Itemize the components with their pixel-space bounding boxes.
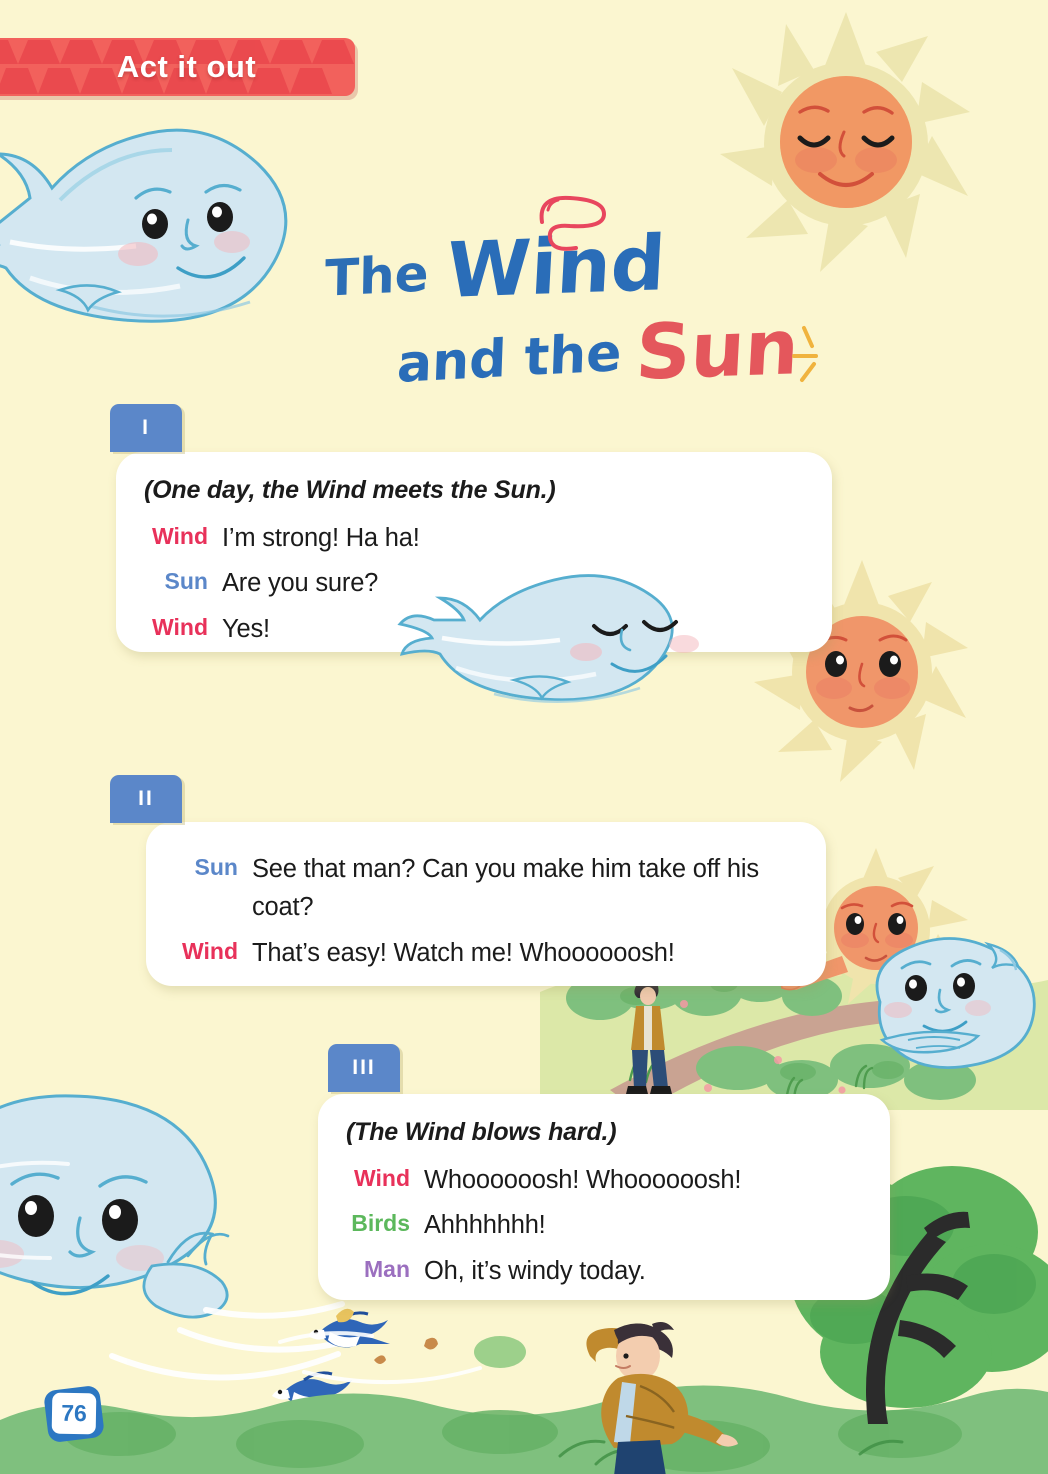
title-word-sun: Sun (633, 302, 801, 397)
wind-character-top-left (0, 92, 340, 364)
sun-top-right-icon (716, 6, 976, 278)
page-number-value: 76 (49, 1390, 100, 1438)
scene-tab-2[interactable]: II (110, 775, 182, 823)
speaker-label: Wind (144, 519, 222, 554)
speech-text: See that man? Can you make him take off … (252, 850, 762, 927)
wind-spirit-laughing-icon (398, 568, 728, 738)
speaker-label: Man (346, 1252, 424, 1287)
speech-text: Oh, it’s windy today. (424, 1252, 862, 1290)
speaker-label: Sun (144, 564, 222, 599)
dialogue-line: Wind That’s easy! Watch me! Whoooooosh! (174, 934, 798, 972)
title-sparkle-decoration (790, 322, 846, 388)
wind-character-scene-two (860, 928, 1048, 1078)
stage-direction-3: (The Wind blows hard.) (346, 1118, 862, 1147)
man-holding-hair-icon (556, 1308, 746, 1474)
scene-numeral: III (352, 1056, 376, 1080)
dialogue-box-scene-3: (The Wind blows hard.) Wind Whoooooosh! … (318, 1094, 890, 1300)
dialogue-line: Birds Ahhhhhhh! (346, 1206, 862, 1244)
title-word-the: The (325, 244, 429, 308)
speech-text: Ahhhhhhh! (424, 1206, 862, 1244)
speech-text: Whoooooosh! Whoooooosh! (424, 1161, 862, 1199)
scene-numeral: I (142, 416, 150, 440)
dialogue-line: Wind I’m strong! Ha ha! (144, 519, 804, 557)
speaker-label: Sun (174, 850, 252, 885)
title-word-and-the: and the (396, 323, 622, 395)
dialogue-line: Man Oh, it’s windy today. (346, 1252, 862, 1290)
dialogue-line: Wind Whoooooosh! Whoooooosh! (346, 1161, 862, 1199)
title-swirl-decoration (524, 192, 634, 256)
swirl-icon (524, 192, 634, 256)
scene-tab-3[interactable]: III (328, 1044, 400, 1092)
dialogue-box-scene-2: Sun See that man? Can you make him take … (146, 822, 826, 986)
scene-tab-1[interactable]: I (110, 404, 182, 452)
wind-character-scene-one (398, 568, 728, 738)
textbook-page: Act it out The Wind and the Sun I (0, 0, 1048, 1474)
banner-title: Act it out (79, 49, 256, 85)
wind-spirit-top-left-icon (0, 92, 340, 364)
speaker-label: Wind (346, 1161, 424, 1196)
wind-spirit-arms-crossed-icon (860, 928, 1048, 1078)
dialogue-line: Sun See that man? Can you make him take … (174, 850, 798, 927)
sparkle-icon (790, 322, 846, 388)
man-windy-scene-three (556, 1308, 746, 1474)
act-it-out-banner: Act it out (0, 38, 355, 96)
stage-direction-1: (One day, the Wind meets the Sun.) (144, 476, 804, 505)
speaker-label: Birds (346, 1206, 424, 1241)
speaker-label: Wind (144, 610, 222, 645)
sun-character-top-right (716, 6, 976, 278)
page-number-badge: 76 (46, 1388, 102, 1440)
speech-text: That’s easy! Watch me! Whoooooosh! (252, 934, 798, 972)
speech-text: I’m strong! Ha ha! (222, 519, 804, 557)
scene-numeral: II (138, 787, 154, 811)
speaker-label: Wind (174, 934, 252, 969)
